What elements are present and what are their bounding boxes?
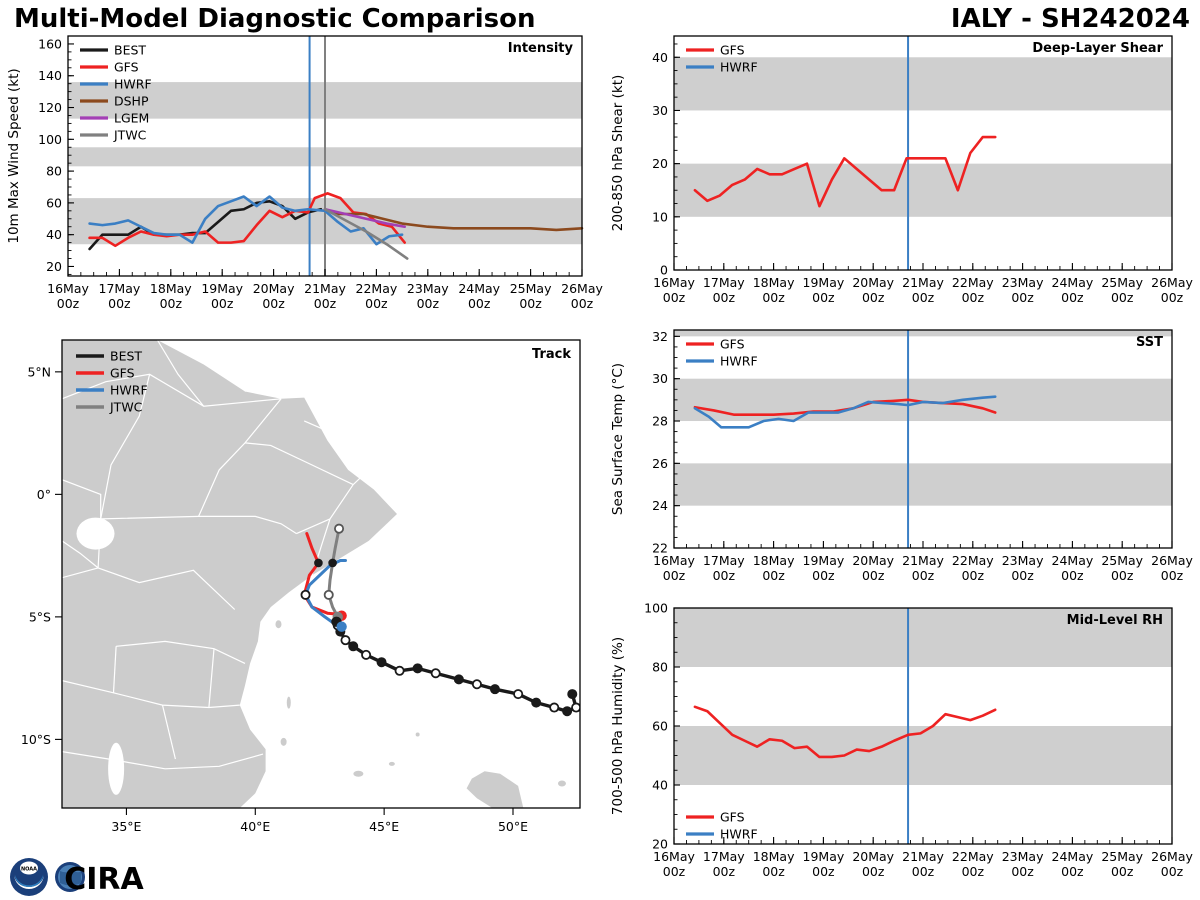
y-axis-label: 200-850 hPa Shear (kt) bbox=[610, 75, 626, 232]
intensity-panel[interactable]: 2040608010012014016016May00z17May00z18Ma… bbox=[0, 28, 600, 328]
y-tick-label: 30 bbox=[652, 371, 668, 386]
panel-title: Deep-Layer Shear bbox=[1032, 41, 1163, 56]
x-tick-sublabel: 00z bbox=[862, 290, 885, 305]
cira-logo-label: CIRA bbox=[64, 862, 144, 897]
y-tick-label: 40 bbox=[46, 227, 62, 242]
x-tick-label: 23May bbox=[1002, 275, 1044, 290]
y-axis-label: 10m Max Wind Speed (kt) bbox=[6, 68, 22, 243]
best-track-point bbox=[572, 703, 580, 711]
x-tick-label: 21May bbox=[304, 281, 346, 296]
island-5 bbox=[558, 780, 566, 786]
x-tick-sublabel: 00z bbox=[1061, 568, 1084, 583]
x-tick-label: 21May bbox=[902, 849, 944, 864]
best-track-point bbox=[473, 680, 481, 688]
x-tick-label: 22May bbox=[952, 553, 994, 568]
x-tick-label: 19May bbox=[803, 553, 845, 568]
x-tick-label: 18May bbox=[150, 281, 192, 296]
legend-label-gfs: GFS bbox=[114, 60, 139, 75]
legend-label-lgem: LGEM bbox=[114, 111, 149, 126]
x-tick-label: 25May bbox=[1101, 553, 1143, 568]
x-tick-sublabel: 00z bbox=[962, 864, 985, 879]
x-tick-label: 17May bbox=[703, 553, 745, 568]
sst-panel[interactable]: 22242628303216May00z17May00z18May00z19Ma… bbox=[600, 322, 1200, 600]
x-tick-sublabel: 00z bbox=[1111, 568, 1134, 583]
x-tick-sublabel: 00z bbox=[862, 864, 885, 879]
logo-group: NOAA CIRA bbox=[8, 856, 140, 898]
x-tick-sublabel: 00z bbox=[468, 296, 491, 311]
legend-label-hwrf: HWRF bbox=[720, 354, 758, 369]
x-tick-sublabel: 00z bbox=[57, 296, 80, 311]
lat-tick-label: 10°S bbox=[21, 732, 51, 747]
x-tick-sublabel: 00z bbox=[912, 864, 935, 879]
lake-1 bbox=[108, 743, 124, 795]
lon-tick-label: 45°E bbox=[369, 819, 399, 834]
legend-label-best: BEST bbox=[114, 43, 146, 58]
x-tick-label: 24May bbox=[1052, 275, 1094, 290]
x-tick-sublabel: 00z bbox=[1111, 864, 1134, 879]
x-tick-label: 25May bbox=[1101, 275, 1143, 290]
island-1 bbox=[389, 762, 395, 766]
x-tick-label: 23May bbox=[407, 281, 449, 296]
y-tick-label: 40 bbox=[652, 778, 668, 793]
y-tick-label: 28 bbox=[652, 414, 668, 429]
island-6 bbox=[416, 732, 420, 736]
x-tick-label: 20May bbox=[852, 849, 894, 864]
x-tick-sublabel: 00z bbox=[713, 290, 736, 305]
lon-tick-label: 50°E bbox=[498, 819, 528, 834]
x-tick-label: 26May bbox=[1151, 849, 1193, 864]
x-tick-sublabel: 00z bbox=[160, 296, 183, 311]
x-tick-label: 16May bbox=[47, 281, 89, 296]
y-tick-label: 40 bbox=[652, 50, 668, 65]
y-tick-label: 160 bbox=[38, 36, 62, 51]
y-tick-label: 100 bbox=[38, 132, 62, 147]
x-tick-sublabel: 00z bbox=[1061, 864, 1084, 879]
x-tick-label: 20May bbox=[852, 553, 894, 568]
x-tick-sublabel: 00z bbox=[912, 568, 935, 583]
x-tick-label: 26May bbox=[1151, 275, 1193, 290]
x-tick-sublabel: 00z bbox=[1111, 290, 1134, 305]
x-tick-label: 24May bbox=[1052, 849, 1094, 864]
x-tick-label: 18May bbox=[753, 275, 795, 290]
model-track-point bbox=[301, 591, 309, 599]
y-tick-label: 60 bbox=[46, 195, 62, 210]
lake-2 bbox=[17, 587, 29, 647]
x-tick-sublabel: 00z bbox=[962, 568, 985, 583]
x-tick-label: 22May bbox=[356, 281, 398, 296]
x-tick-sublabel: 00z bbox=[812, 864, 835, 879]
legend-label-gfs: GFS bbox=[110, 366, 135, 381]
y-tick-label: 140 bbox=[38, 68, 62, 83]
x-tick-sublabel: 00z bbox=[1011, 290, 1034, 305]
x-tick-label: 20May bbox=[253, 281, 295, 296]
x-tick-label: 17May bbox=[99, 281, 141, 296]
x-tick-label: 26May bbox=[561, 281, 603, 296]
best-track-point bbox=[491, 685, 499, 693]
x-tick-label: 22May bbox=[952, 275, 994, 290]
x-tick-sublabel: 00z bbox=[663, 864, 686, 879]
x-tick-sublabel: 00z bbox=[812, 568, 835, 583]
x-tick-label: 16May bbox=[653, 849, 695, 864]
y-tick-label: 120 bbox=[38, 100, 62, 115]
x-tick-sublabel: 00z bbox=[762, 864, 785, 879]
best-track-point bbox=[550, 703, 558, 711]
x-tick-label: 17May bbox=[703, 849, 745, 864]
x-tick-label: 25May bbox=[1101, 849, 1143, 864]
best-track-point bbox=[341, 636, 349, 644]
panel-title: Intensity bbox=[508, 41, 574, 56]
x-tick-label: 18May bbox=[753, 849, 795, 864]
x-tick-label: 26May bbox=[1151, 553, 1193, 568]
panel-title: Mid-Level RH bbox=[1067, 613, 1163, 628]
panel-title: Track bbox=[532, 347, 571, 362]
x-tick-sublabel: 00z bbox=[713, 864, 736, 879]
x-tick-sublabel: 00z bbox=[1011, 864, 1034, 879]
y-tick-label: 26 bbox=[652, 456, 668, 471]
legend-label-gfs: GFS bbox=[720, 337, 745, 352]
x-tick-sublabel: 00z bbox=[417, 296, 440, 311]
legend-label-jtwc: JTWC bbox=[113, 128, 147, 143]
x-tick-label: 24May bbox=[1052, 553, 1094, 568]
noaa-logo-label: NOAA bbox=[21, 867, 37, 873]
y-tick-label: 24 bbox=[652, 498, 668, 513]
x-tick-sublabel: 00z bbox=[519, 296, 542, 311]
x-tick-label: 16May bbox=[653, 553, 695, 568]
x-tick-sublabel: 00z bbox=[812, 290, 835, 305]
lat-tick-label: 5°S bbox=[29, 609, 51, 624]
y-tick-label: 60 bbox=[652, 719, 668, 734]
y-tick-label: 10 bbox=[652, 209, 668, 224]
lon-tick-label: 40°E bbox=[240, 819, 270, 834]
x-tick-sublabel: 00z bbox=[962, 290, 985, 305]
legend-label-dshp: DSHP bbox=[114, 94, 149, 109]
y-tick-label: 80 bbox=[652, 660, 668, 675]
noaa-logo-icon: NOAA bbox=[10, 858, 48, 896]
rh-panel[interactable]: 2040608010016May00z17May00z18May00z19May… bbox=[600, 600, 1200, 896]
legend-label-hwrf: HWRF bbox=[720, 827, 758, 842]
lat-tick-label: 5°N bbox=[27, 364, 51, 379]
x-tick-label: 21May bbox=[902, 553, 944, 568]
x-tick-sublabel: 00z bbox=[912, 290, 935, 305]
track-panel[interactable]: 5°N0°5°S10°S35°E40°E45°E50°ETrackBESTGFS… bbox=[0, 332, 600, 860]
map-content bbox=[17, 340, 580, 808]
lat-tick-label: 0° bbox=[37, 487, 51, 502]
y-tick-label: 32 bbox=[652, 329, 668, 344]
x-tick-sublabel: 00z bbox=[365, 296, 388, 311]
legend-label-jtwc: JTWC bbox=[109, 400, 143, 415]
best-track-point bbox=[568, 690, 576, 698]
x-tick-label: 19May bbox=[803, 849, 845, 864]
x-tick-sublabel: 00z bbox=[862, 568, 885, 583]
legend-label-hwrf: HWRF bbox=[110, 383, 148, 398]
x-tick-label: 21May bbox=[902, 275, 944, 290]
x-tick-sublabel: 00z bbox=[762, 290, 785, 305]
x-tick-label: 19May bbox=[201, 281, 243, 296]
legend-label-gfs: GFS bbox=[720, 810, 745, 825]
island-2 bbox=[281, 738, 287, 746]
legend-label-gfs: GFS bbox=[720, 43, 745, 58]
best-track-point bbox=[414, 664, 422, 672]
x-tick-label: 22May bbox=[952, 849, 994, 864]
x-tick-sublabel: 00z bbox=[762, 568, 785, 583]
y-tick-label: 100 bbox=[644, 601, 668, 616]
x-tick-sublabel: 00z bbox=[1161, 568, 1184, 583]
x-tick-label: 24May bbox=[458, 281, 500, 296]
best-track-point bbox=[377, 658, 385, 666]
x-tick-label: 19May bbox=[803, 275, 845, 290]
x-tick-sublabel: 00z bbox=[1161, 864, 1184, 879]
best-track-point bbox=[396, 667, 404, 675]
y-axis-label: Sea Surface Temp (°C) bbox=[610, 363, 626, 515]
gfs-init-point bbox=[314, 559, 323, 568]
x-tick-sublabel: 00z bbox=[262, 296, 285, 311]
best-track-point bbox=[455, 675, 463, 683]
lon-tick-label: 35°E bbox=[111, 819, 141, 834]
x-tick-sublabel: 00z bbox=[211, 296, 234, 311]
legend-label-hwrf: HWRF bbox=[114, 77, 152, 92]
x-tick-sublabel: 00z bbox=[1011, 568, 1034, 583]
x-tick-label: 20May bbox=[852, 275, 894, 290]
legend-label-best: BEST bbox=[110, 349, 142, 364]
island-4 bbox=[275, 620, 281, 628]
y-tick-label: 80 bbox=[46, 164, 62, 179]
x-tick-sublabel: 00z bbox=[663, 290, 686, 305]
best-track-point bbox=[362, 651, 370, 659]
best-track-point bbox=[514, 690, 522, 698]
x-tick-sublabel: 00z bbox=[1161, 290, 1184, 305]
panel-title: SST bbox=[1136, 335, 1163, 350]
shear-panel[interactable]: 01020304016May00z17May00z18May00z19May00… bbox=[600, 28, 1200, 322]
x-tick-label: 18May bbox=[753, 553, 795, 568]
island-0 bbox=[353, 771, 363, 777]
best-track-point bbox=[432, 669, 440, 677]
x-tick-sublabel: 00z bbox=[314, 296, 337, 311]
y-axis-label: 700-500 hPa Humidity (%) bbox=[610, 637, 626, 815]
x-tick-sublabel: 00z bbox=[571, 296, 594, 311]
island-3 bbox=[287, 697, 291, 709]
best-track-point bbox=[532, 699, 540, 707]
jtwc-track-point bbox=[335, 525, 343, 533]
jtwc-track-point bbox=[325, 591, 333, 599]
x-tick-sublabel: 00z bbox=[663, 568, 686, 583]
cira-logo-icon: CIRA bbox=[55, 862, 145, 897]
x-tick-label: 17May bbox=[703, 275, 745, 290]
x-tick-sublabel: 00z bbox=[1061, 290, 1084, 305]
x-tick-label: 23May bbox=[1002, 849, 1044, 864]
legend-label-hwrf: HWRF bbox=[720, 60, 758, 75]
endpoint-hwrf bbox=[336, 621, 346, 631]
y-tick-label: 30 bbox=[652, 103, 668, 118]
lake-0 bbox=[77, 518, 115, 550]
best-track-point bbox=[349, 642, 357, 650]
x-tick-label: 23May bbox=[1002, 553, 1044, 568]
x-tick-sublabel: 00z bbox=[108, 296, 131, 311]
jtwc-init-point bbox=[328, 559, 337, 568]
best-track-point bbox=[563, 707, 571, 715]
x-tick-sublabel: 00z bbox=[713, 568, 736, 583]
x-tick-label: 16May bbox=[653, 275, 695, 290]
x-tick-label: 25May bbox=[510, 281, 552, 296]
y-tick-label: 20 bbox=[652, 156, 668, 171]
y-tick-label: 20 bbox=[46, 259, 62, 274]
